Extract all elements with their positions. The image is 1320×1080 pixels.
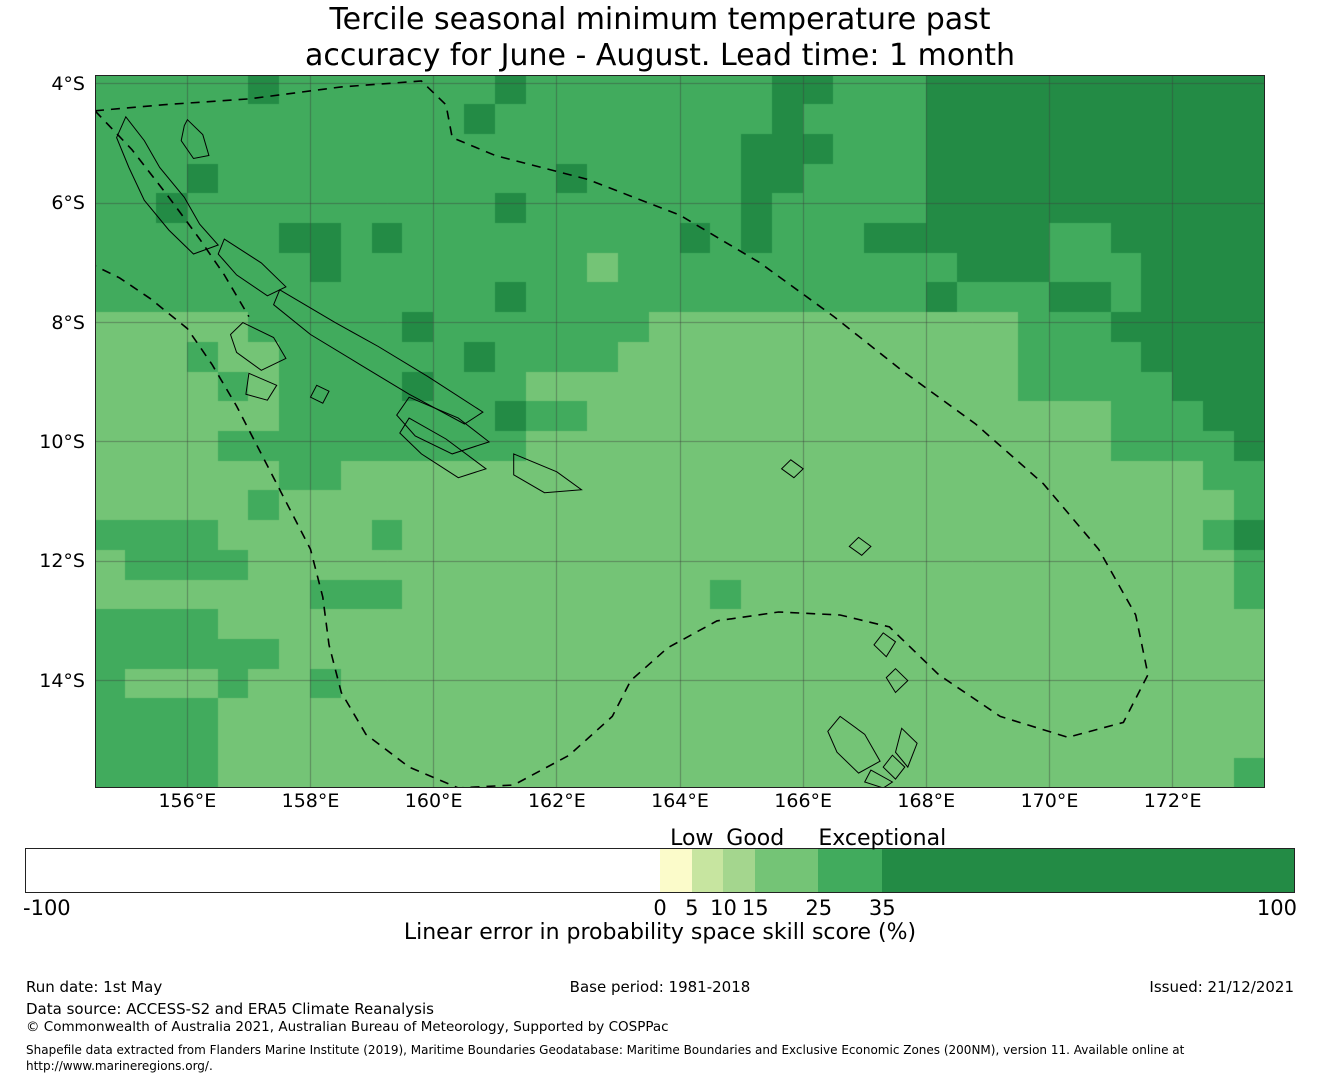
longitude-tick-160e: 160°E	[374, 790, 494, 812]
colorbar-segment-35-100[interactable]	[882, 849, 1294, 892]
longitude-tick-156e: 156°E	[127, 790, 247, 812]
colorbar-segment-25-35[interactable]	[818, 849, 881, 892]
longitude-tick-162e: 162°E	[497, 790, 617, 812]
colorbar-tick--100: -100	[23, 896, 143, 920]
colorbar-segment--100-0[interactable]	[26, 849, 660, 892]
colorbar-axis-label: Linear error in probability space skill …	[0, 920, 1320, 945]
issued-date: Issued: 21/12/2021	[1149, 978, 1294, 996]
latitude-tick-12s: 12°S	[0, 550, 85, 572]
latitude-tick-6s: 6°S	[0, 192, 85, 214]
latitude-tick-14s: 14°S	[0, 670, 85, 692]
colorbar-tick-100: 100	[1177, 896, 1297, 920]
base-period: Base period: 1981-2018	[0, 978, 1320, 996]
longitude-tick-166e: 166°E	[743, 790, 863, 812]
colorbar-segment-10-15[interactable]	[723, 849, 755, 892]
colorbar-segment-0-5[interactable]	[660, 849, 692, 892]
latitude-tick-4s: 4°S	[0, 73, 85, 95]
colorbar-segment-15-25[interactable]	[755, 849, 818, 892]
data-source: Data source: ACCESS-S2 and ERA5 Climate …	[26, 1000, 434, 1018]
longitude-tick-172e: 172°E	[1113, 790, 1233, 812]
longitude-tick-168e: 168°E	[866, 790, 986, 812]
colorbar-segment-5-10[interactable]	[692, 849, 724, 892]
latitude-tick-8s: 8°S	[0, 312, 85, 334]
latitude-tick-10s: 10°S	[0, 431, 85, 453]
colorbar-tick-35: 35	[822, 896, 942, 920]
map-panel[interactable]	[95, 75, 1265, 788]
longitude-tick-164e: 164°E	[620, 790, 740, 812]
colorbar[interactable]	[25, 848, 1295, 893]
coastline-and-eez-overlay	[95, 75, 1265, 788]
page-title: Tercile seasonal minimum temperature pas…	[0, 2, 1320, 74]
copyright: © Commonwealth of Australia 2021, Austra…	[26, 1019, 669, 1035]
shapefile-credit: Shapefile data extracted from Flanders M…	[26, 1042, 1256, 1074]
colorbar-label-exceptional: Exceptional	[762, 826, 1002, 851]
longitude-tick-158e: 158°E	[251, 790, 371, 812]
longitude-tick-170e: 170°E	[989, 790, 1109, 812]
